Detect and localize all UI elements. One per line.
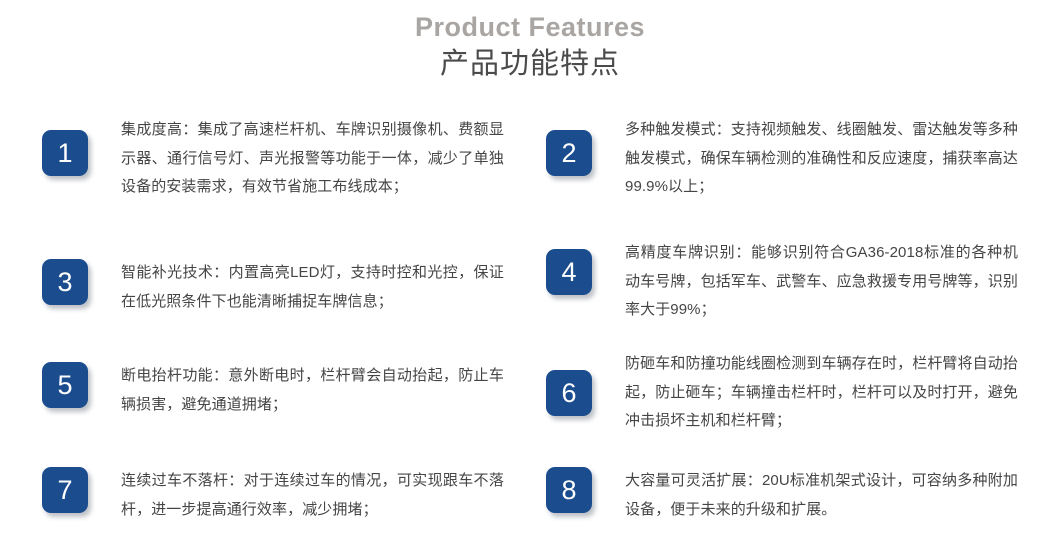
feature-number-badge-3: 3 bbox=[42, 259, 88, 305]
feature-description-7: 连续过车不落杆：对于连续过车的情况，可实现跟车不落杆，进一步提高通行效率，减少拥… bbox=[121, 467, 504, 524]
feature-number-badge-7: 7 bbox=[42, 467, 88, 513]
page-header: Product Features 产品功能特点 bbox=[0, 0, 1060, 83]
feature-item-4: 4 高精度车牌识别：能够识别符合GA36-2018标准的各种机动车号牌，包括军车… bbox=[504, 217, 1018, 322]
feature-description-3: 智能补光技术：内置高亮LED灯，支持时控和光控，保证在低光照条件下也能清晰捕捉车… bbox=[121, 259, 504, 316]
feature-number-badge-2: 2 bbox=[546, 130, 592, 176]
feature-item-6: 6 防砸车和防撞功能线圈检测到车辆存在时，栏杆臂将自动抬起，防止砸车；车辆撞击栏… bbox=[504, 322, 1018, 427]
feature-description-5: 断电抬杆功能：意外断电时，栏杆臂会自动抬起，防止车辆损害，避免通道拥堵； bbox=[121, 362, 504, 419]
feature-number-badge-8: 8 bbox=[546, 467, 592, 513]
page-title-english: Product Features bbox=[0, 10, 1060, 44]
feature-item-7: 7 连续过车不落杆：对于连续过车的情况，可实现跟车不落杆，进一步提高通行效率，减… bbox=[0, 427, 504, 532]
feature-number-badge-4: 4 bbox=[546, 249, 592, 295]
feature-number-badge-1: 1 bbox=[42, 130, 88, 176]
feature-number-badge-5: 5 bbox=[42, 362, 88, 408]
feature-grid: 1 集成度高：集成了高速栏杆机、车牌识别摄像机、费额显示器、通行信号灯、声光报警… bbox=[0, 112, 1060, 532]
feature-description-6: 防砸车和防撞功能线圈检测到车辆存在时，栏杆臂将自动抬起，防止砸车；车辆撞击栏杆时… bbox=[625, 350, 1018, 436]
feature-number-badge-6: 6 bbox=[546, 370, 592, 416]
feature-item-5: 5 断电抬杆功能：意外断电时，栏杆臂会自动抬起，防止车辆损害，避免通道拥堵； bbox=[0, 322, 504, 427]
feature-description-8: 大容量可灵活扩展：20U标准机架式设计，可容纳多种附加设备，便于未来的升级和扩展… bbox=[625, 467, 1018, 524]
feature-description-1: 集成度高：集成了高速栏杆机、车牌识别摄像机、费额显示器、通行信号灯、声光报警等功… bbox=[121, 116, 504, 202]
page-title-chinese: 产品功能特点 bbox=[0, 45, 1060, 83]
feature-item-3: 3 智能补光技术：内置高亮LED灯，支持时控和光控，保证在低光照条件下也能清晰捕… bbox=[0, 217, 504, 322]
feature-item-2: 2 多种触发模式：支持视频触发、线圈触发、雷达触发等多种触发模式，确保车辆检测的… bbox=[504, 112, 1018, 217]
feature-description-4: 高精度车牌识别：能够识别符合GA36-2018标准的各种机动车号牌，包括军车、武… bbox=[625, 239, 1018, 325]
feature-item-8: 8 大容量可灵活扩展：20U标准机架式设计，可容纳多种附加设备，便于未来的升级和… bbox=[504, 427, 1018, 532]
feature-description-2: 多种触发模式：支持视频触发、线圈触发、雷达触发等多种触发模式，确保车辆检测的准确… bbox=[625, 116, 1018, 202]
feature-item-1: 1 集成度高：集成了高速栏杆机、车牌识别摄像机、费额显示器、通行信号灯、声光报警… bbox=[0, 112, 504, 217]
product-features-page: Product Features 产品功能特点 1 集成度高：集成了高速栏杆机、… bbox=[0, 0, 1060, 535]
